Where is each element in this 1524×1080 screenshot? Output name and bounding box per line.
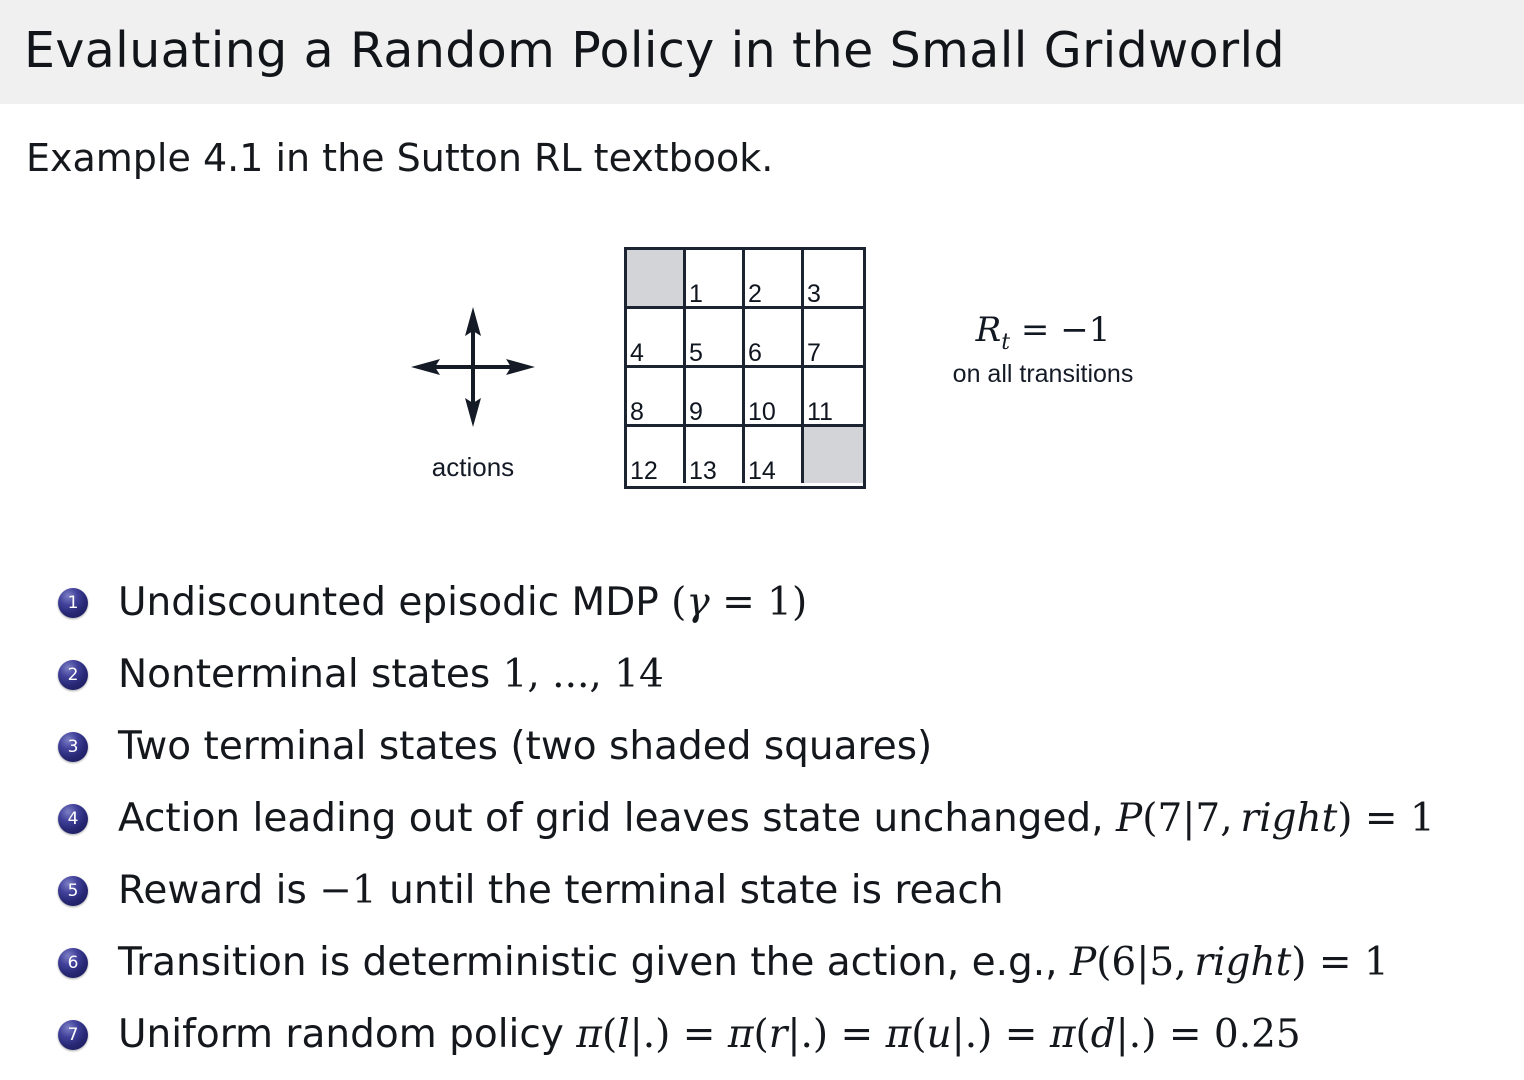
reward-formula-subscript: t	[1001, 330, 1010, 355]
list-item: 3 Two terminal states (two shaded square…	[0, 716, 1524, 788]
gridworld-row: 8 9 10 11	[627, 368, 863, 427]
list-bullet-7: 7	[58, 1020, 88, 1050]
gridworld-cell-11: 11	[804, 368, 863, 424]
list-item-label: Reward is −1 until the terminal state is…	[118, 860, 1004, 922]
cell-label: 12	[630, 459, 658, 484]
reward-formula-variable: R	[976, 310, 1002, 350]
gridworld-cell-1: 1	[686, 250, 745, 306]
list-bullet-1: 1	[58, 588, 88, 618]
gridworld-row: 12 13 14	[627, 427, 863, 486]
gridworld-row: 1 2 3	[627, 250, 863, 309]
gridworld-cell-4: 4	[627, 309, 686, 365]
cell-label: 2	[748, 282, 762, 307]
list-item: 2 Nonterminal states 1, ..., 14	[0, 644, 1524, 716]
gridworld-row: 4 5 6 7	[627, 309, 863, 368]
cell-label: 10	[748, 400, 776, 425]
page-title: Evaluating a Random Policy in the Small …	[24, 22, 1285, 79]
gridworld-cell-8: 8	[627, 368, 686, 424]
list-item: 7 Uniform random policy π(l|.) = π(r|.) …	[0, 1004, 1524, 1076]
cell-label: 1	[689, 282, 703, 307]
gridworld-cell-9: 9	[686, 368, 745, 424]
gridworld-cell-12: 12	[627, 427, 686, 483]
gridworld-cell-5: 5	[686, 309, 745, 365]
cell-label: 6	[748, 341, 762, 366]
gridworld-cell-6: 6	[745, 309, 804, 365]
list-item: 1 Undiscounted episodic MDP (γ = 1)	[0, 572, 1524, 644]
gridworld-cell-terminal-start	[627, 250, 686, 306]
list-bullet-3: 3	[58, 732, 88, 762]
figure-region: actions 1 2 3 4 5 6 7 8 9 10 11 12	[0, 230, 1524, 520]
gridworld-grid: 1 2 3 4 5 6 7 8 9 10 11 12 13 14	[624, 247, 866, 489]
list-item-label: Transition is deterministic given the ac…	[118, 932, 1389, 994]
gridworld-cell-3: 3	[804, 250, 863, 306]
slide: Evaluating a Random Policy in the Small …	[0, 0, 1524, 1080]
actions-label: actions	[408, 452, 538, 483]
gridworld-cell-14: 14	[745, 427, 804, 483]
cell-label: 11	[807, 400, 833, 425]
reward-formula: Rt = −1	[898, 312, 1188, 355]
cell-label: 9	[689, 400, 703, 425]
gridworld-cell-13: 13	[686, 427, 745, 483]
cell-label: 7	[807, 341, 821, 366]
cell-label: 3	[807, 282, 821, 307]
four-way-arrow-cross-icon	[408, 302, 538, 432]
list-item: 5 Reward is −1 until the terminal state …	[0, 860, 1524, 932]
list-item: 6 Transition is deterministic given the …	[0, 932, 1524, 1004]
list-bullet-4: 4	[58, 804, 88, 834]
slide-subtitle: Example 4.1 in the Sutton RL textbook.	[26, 136, 773, 180]
gridworld-cell-7: 7	[804, 309, 863, 365]
cell-label: 13	[689, 459, 717, 484]
gridworld-cell-terminal-end	[804, 427, 863, 483]
list-bullet-2: 2	[58, 660, 88, 690]
reward-note-caption: on all transitions	[898, 360, 1188, 389]
cell-label: 8	[630, 400, 644, 425]
list-bullet-5: 5	[58, 876, 88, 906]
list-item-label: Undiscounted episodic MDP (γ = 1)	[118, 572, 807, 634]
list-item: 4 Action leading out of grid leaves stat…	[0, 788, 1524, 860]
list-item-label: Uniform random policy π(l|.) = π(r|.) = …	[118, 1004, 1301, 1066]
cell-label: 14	[748, 459, 776, 484]
points-list: 1 Undiscounted episodic MDP (γ = 1) 2 No…	[0, 572, 1524, 1076]
list-bullet-6: 6	[58, 948, 88, 978]
list-item-label: Action leading out of grid leaves state …	[118, 788, 1435, 850]
cell-label: 5	[689, 341, 703, 366]
cell-label: 4	[630, 341, 644, 366]
list-item-label: Nonterminal states 1, ..., 14	[118, 644, 664, 706]
reward-note: Rt = −1 on all transitions	[898, 312, 1188, 389]
reward-formula-rest: = −1	[1010, 310, 1110, 350]
gridworld-cell-2: 2	[745, 250, 804, 306]
list-item-label: Two terminal states (two shaded squares)	[118, 716, 932, 778]
gridworld-cell-10: 10	[745, 368, 804, 424]
